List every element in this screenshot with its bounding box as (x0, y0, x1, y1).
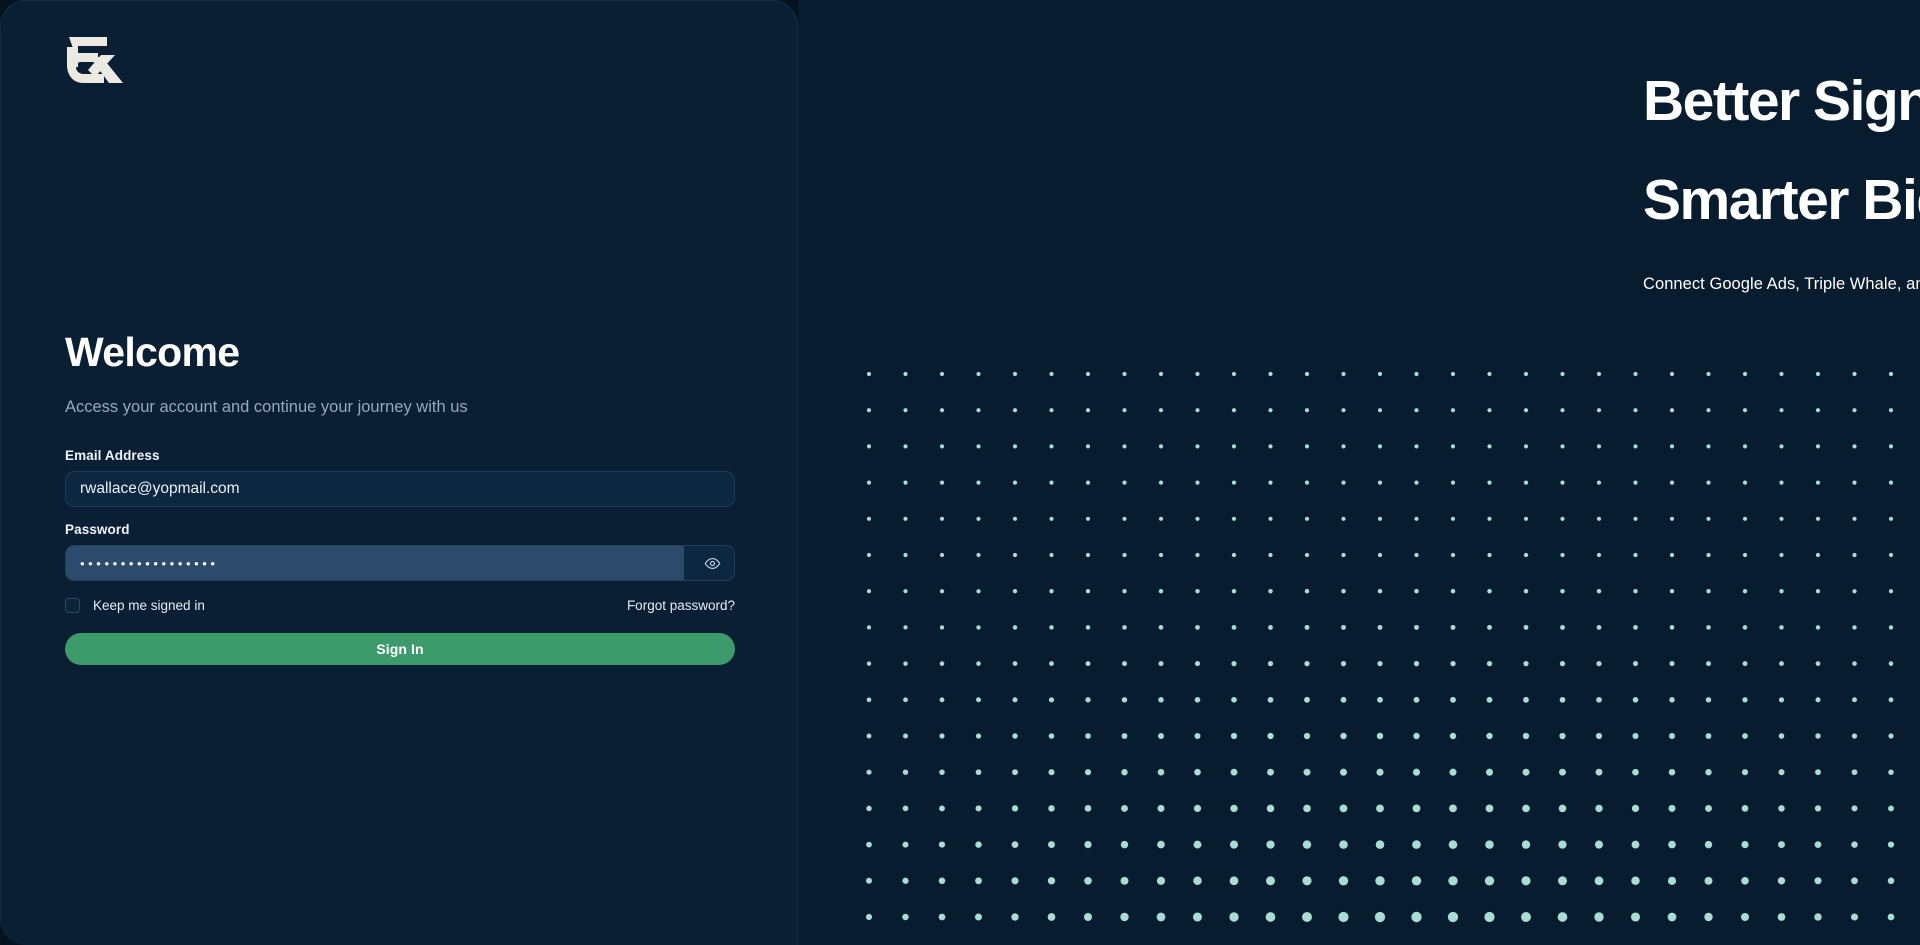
page-title: Welcome (65, 331, 735, 374)
marketing-panel: Better Signals. Smarter Bids. Connect Go… (798, 0, 1920, 945)
keep-signed-in-control[interactable]: Keep me signed in (65, 598, 205, 613)
login-form: Welcome Access your account and continue… (65, 331, 735, 665)
login-options-row: Keep me signed in Forgot password? (65, 598, 735, 613)
forgot-password-link[interactable]: Forgot password? (627, 598, 735, 613)
email-input-shell (65, 471, 735, 507)
hero-headline-line1: Better Signals. (1643, 73, 1920, 130)
email-input[interactable] (65, 471, 735, 507)
login-page: Welcome Access your account and continue… (0, 0, 1920, 945)
page-subtitle: Access your account and continue your jo… (65, 396, 735, 419)
keep-signed-in-label: Keep me signed in (93, 598, 205, 613)
sign-in-button[interactable]: Sign In (65, 633, 735, 665)
ampersand-logo-icon (65, 27, 147, 99)
hero-block: Better Signals. Smarter Bids. Connect Go… (1643, 0, 1920, 294)
login-panel: Welcome Access your account and continue… (0, 0, 798, 945)
hero-subtitle: Connect Google Ads, Triple Whale, and No… (1643, 275, 1920, 294)
eye-icon[interactable] (700, 551, 724, 575)
password-input-shell[interactable]: ••••••••••••••••• (65, 545, 735, 581)
password-masked-value: ••••••••••••••••• (66, 557, 219, 570)
keep-signed-in-checkbox[interactable] (65, 598, 80, 613)
hero-headline-line2: Smarter Bids. (1643, 172, 1920, 229)
password-label: Password (65, 522, 735, 537)
email-label: Email Address (65, 448, 735, 463)
password-field-group: Password ••••••••••••••••• (65, 522, 735, 581)
email-field-group: Email Address (65, 448, 735, 507)
